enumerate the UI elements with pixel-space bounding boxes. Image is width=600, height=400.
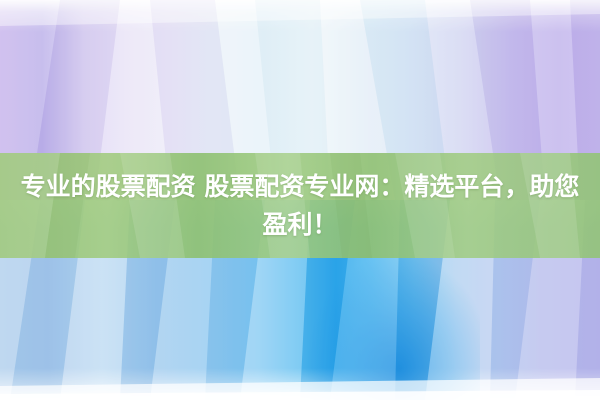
promo-banner: 专业的股票配资 股票配资专业网：精选平台，助您盈利！ <box>0 0 600 400</box>
headline-text: 专业的股票配资 股票配资专业网：精选平台，助您盈利！ <box>6 168 594 244</box>
headline-band: 专业的股票配资 股票配资专业网：精选平台，助您盈利！ <box>0 153 600 258</box>
